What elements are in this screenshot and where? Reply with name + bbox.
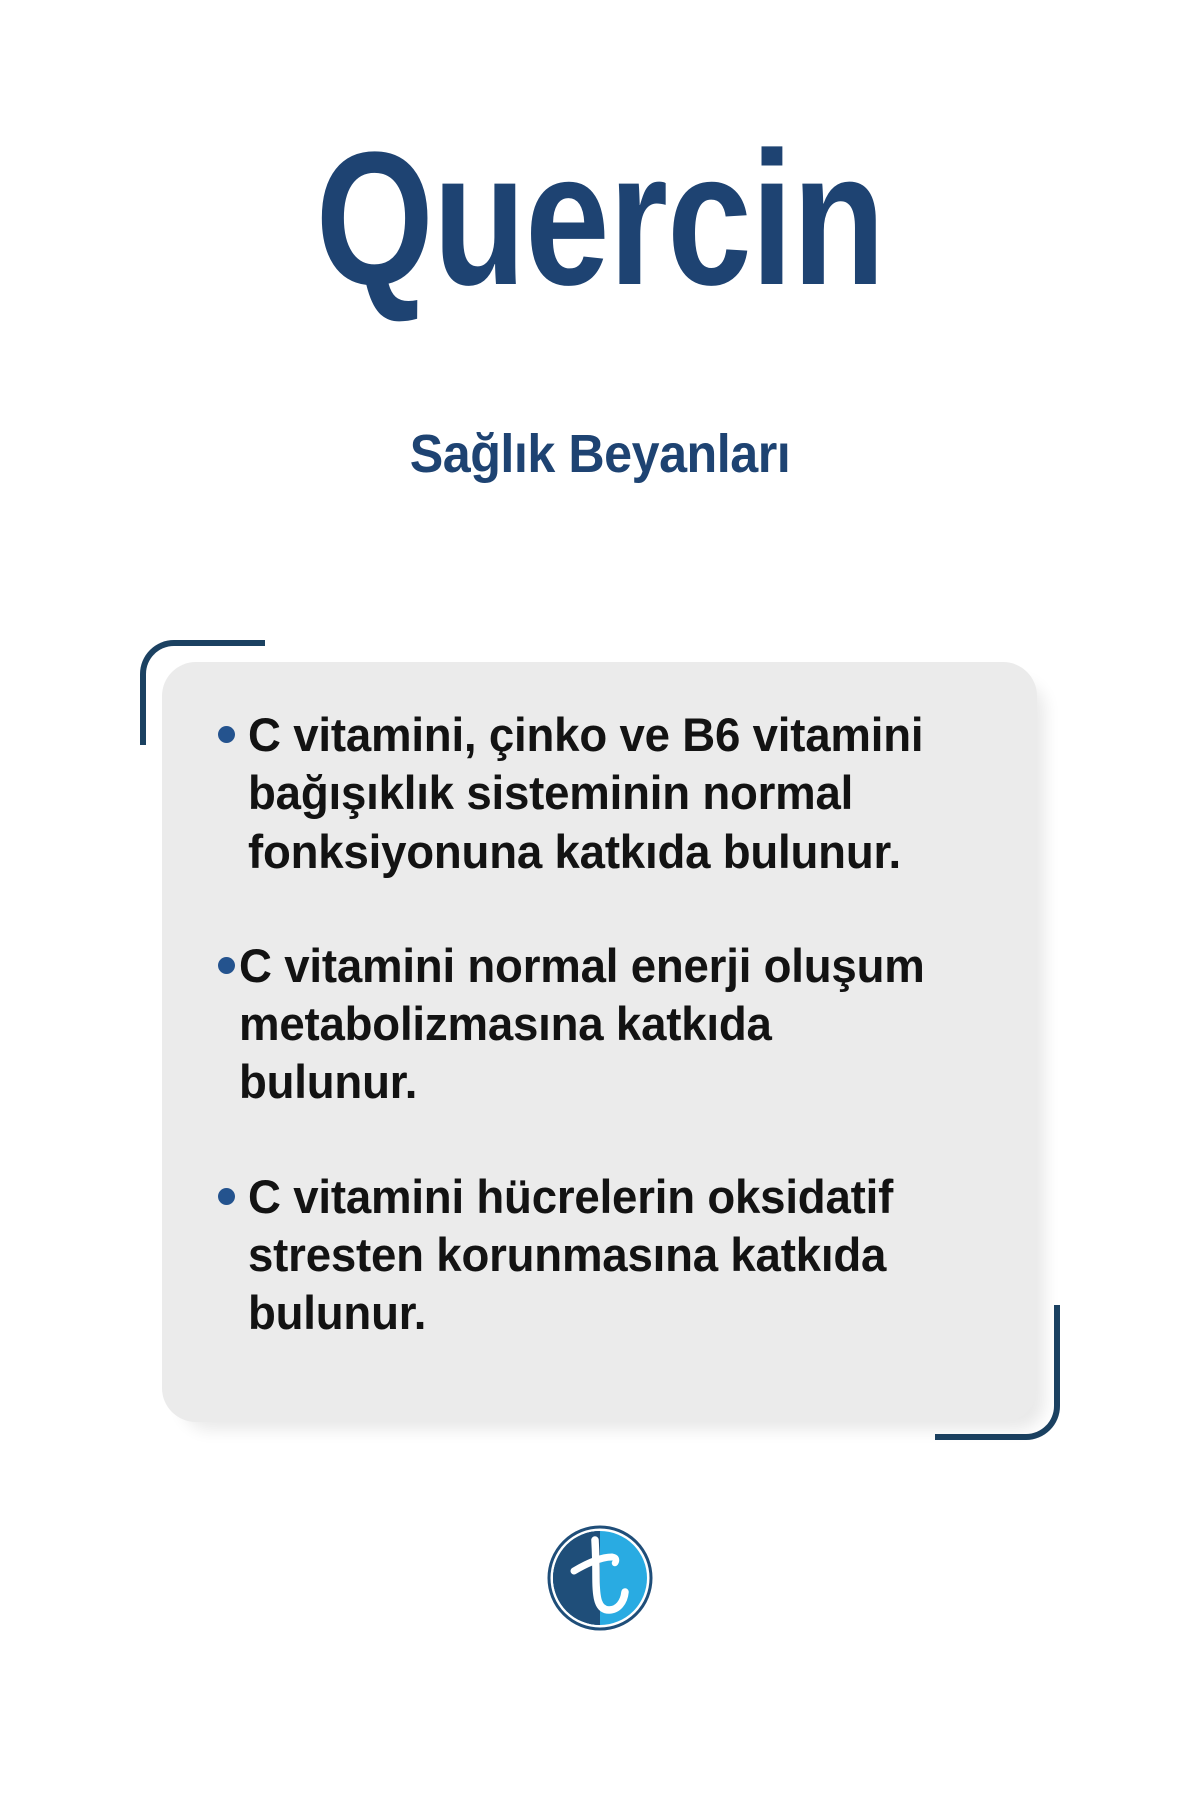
list-item: C vitamini, çinko ve B6 vitamini bağışık… xyxy=(218,706,981,881)
list-item: C vitamini normal enerji oluşum metaboli… xyxy=(218,937,981,1112)
list-item: C vitamini hücrelerin oksidatif stresten… xyxy=(218,1168,981,1343)
health-claims-card: C vitamini, çinko ve B6 vitamini bağışık… xyxy=(162,662,1037,1422)
bullet-dot-icon xyxy=(218,726,235,743)
claim-text: C vitamini hücrelerin oksidatif stresten… xyxy=(248,1168,959,1343)
brand-logo-icon xyxy=(546,1524,654,1632)
claim-text: C vitamini normal enerji oluşum metaboli… xyxy=(239,937,959,1112)
section-subtitle: Sağlık Beyanları xyxy=(42,425,1158,484)
claim-text: C vitamini, çinko ve B6 vitamini bağışık… xyxy=(248,706,959,881)
product-info-page: Quercin Sağlık Beyanları C vitamini, çin… xyxy=(0,0,1200,1800)
bullet-dot-icon xyxy=(218,1188,235,1205)
health-claims-list: C vitamini, çinko ve B6 vitamini bağışık… xyxy=(218,706,981,1342)
page-title: Quercin xyxy=(120,126,1080,312)
bullet-dot-icon xyxy=(218,957,235,974)
health-claims-card-wrapper: C vitamini, çinko ve B6 vitamini bağışık… xyxy=(140,640,1060,1440)
